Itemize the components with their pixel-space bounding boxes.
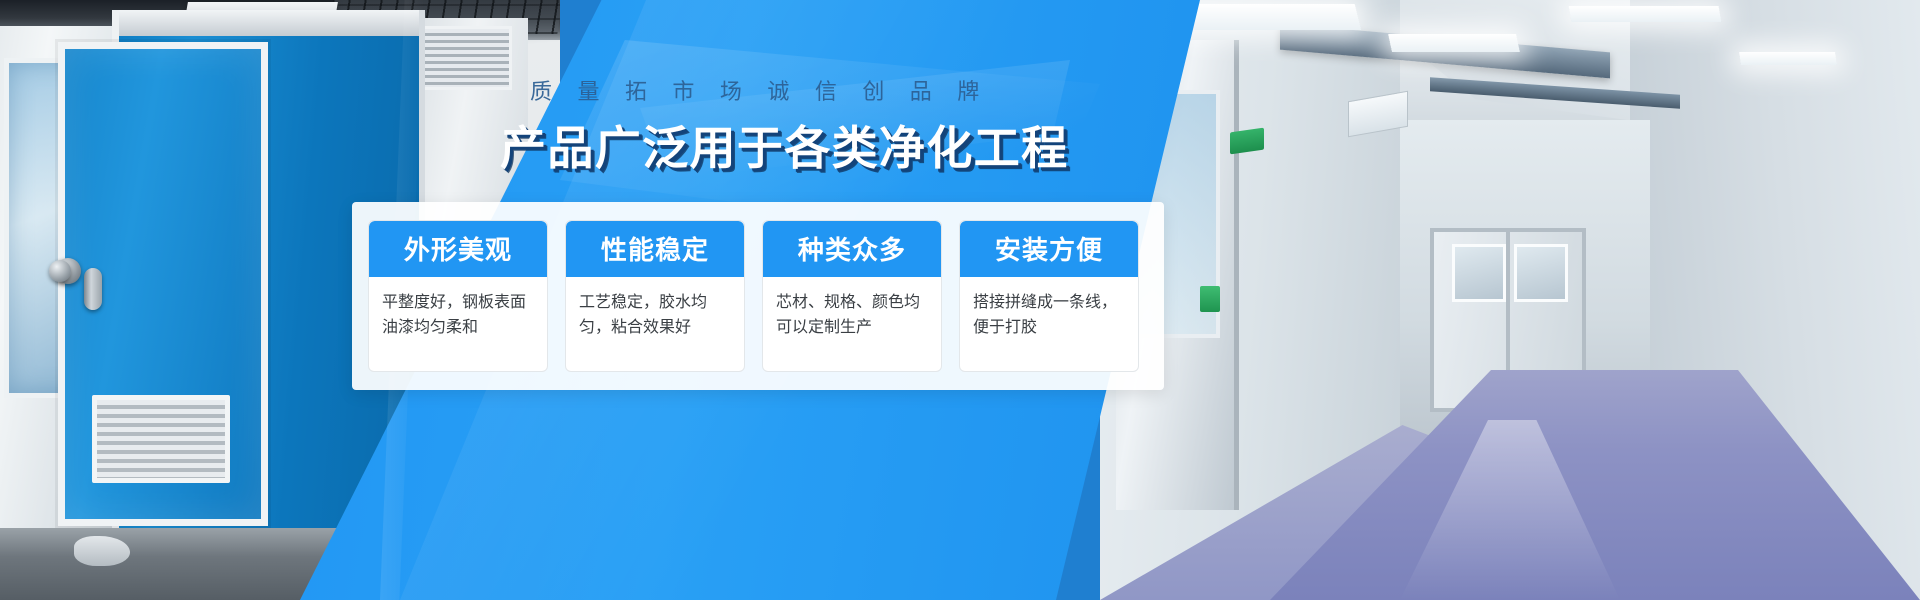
feature-card-title: 性能稳定	[566, 221, 744, 277]
feature-card-title: 种类众多	[763, 221, 941, 277]
banner-tagline: 质 量 拓 市 场 诚 信 创 品 牌	[530, 74, 1050, 106]
feature-card-title: 外形美观	[369, 221, 547, 277]
banner-headline: 产品广泛用于各类净化工程	[500, 112, 1069, 178]
feature-card[interactable]: 安装方便 搭接拼缝成一条线，便于打胶	[959, 220, 1139, 372]
promo-banner: 质 量 拓 市 场 诚 信 创 品 牌 产品广泛用于各类净化工程 外形美观 平整…	[0, 0, 1920, 600]
feature-card[interactable]: 外形美观 平整度好，钢板表面油漆均匀柔和	[368, 220, 548, 372]
feature-card-description: 芯材、规格、颜色均可以定制生产	[763, 277, 941, 371]
feature-card-description: 平整度好，钢板表面油漆均匀柔和	[369, 277, 547, 371]
feature-card[interactable]: 种类众多 芯材、规格、颜色均可以定制生产	[762, 220, 942, 372]
feature-card-title: 安装方便	[960, 221, 1138, 277]
feature-card-description: 工艺稳定，胶水均匀，粘合效果好	[566, 277, 744, 371]
feature-card-panel: 外形美观 平整度好，钢板表面油漆均匀柔和 性能稳定 工艺稳定，胶水均匀，粘合效果…	[352, 202, 1164, 390]
feature-card-description: 搭接拼缝成一条线，便于打胶	[960, 277, 1138, 371]
feature-card[interactable]: 性能稳定 工艺稳定，胶水均匀，粘合效果好	[565, 220, 745, 372]
